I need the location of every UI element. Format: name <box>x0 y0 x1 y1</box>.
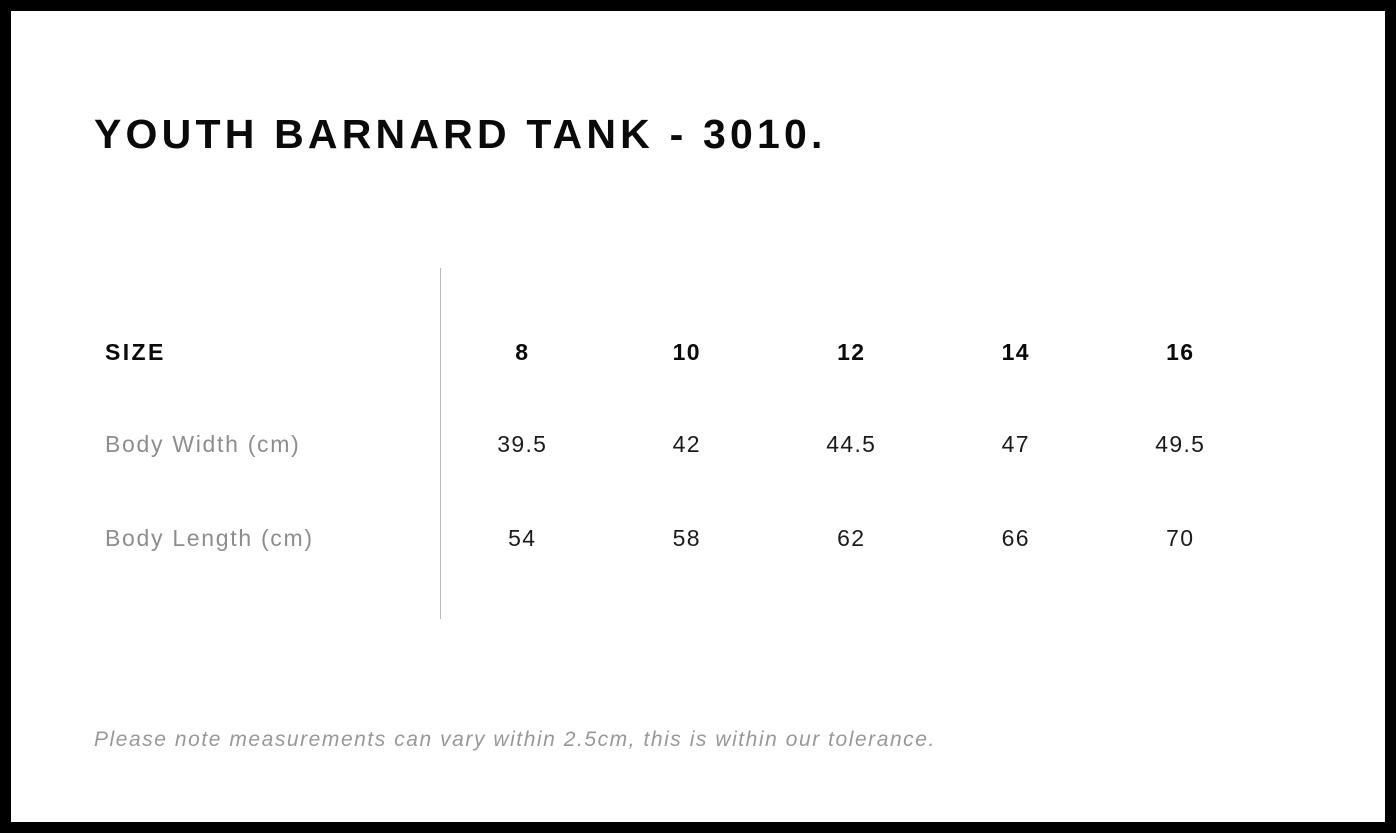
body-length-size-8: 54 <box>440 527 605 550</box>
row-label-body-width: Body Width (cm) <box>94 433 440 456</box>
row-label-body-length: Body Length (cm) <box>94 527 440 550</box>
measurement-tolerance-note: Please note measurements can vary within… <box>94 729 936 750</box>
table-header-size-16: 16 <box>1098 341 1263 364</box>
body-width-size-16: 49.5 <box>1098 433 1263 456</box>
body-length-size-12: 62 <box>769 527 934 550</box>
table-header-size-12: 12 <box>769 341 934 364</box>
size-chart-page: YOUTH BARNARD TANK - 3010. SIZE 8 10 12 … <box>11 11 1385 822</box>
table-row: Body Length (cm) 54 58 62 66 70 <box>94 523 1374 553</box>
body-width-size-12: 44.5 <box>769 433 934 456</box>
body-length-size-14: 66 <box>934 527 1099 550</box>
table-header-size-label: SIZE <box>94 341 440 364</box>
body-width-size-14: 47 <box>934 433 1099 456</box>
body-length-size-16: 70 <box>1098 527 1263 550</box>
body-width-size-8: 39.5 <box>440 433 605 456</box>
body-length-size-10: 58 <box>605 527 770 550</box>
table-header-row: SIZE 8 10 12 14 16 <box>94 337 1374 367</box>
table-row: Body Width (cm) 39.5 42 44.5 47 49.5 <box>94 429 1374 459</box>
page-title: YOUTH BARNARD TANK - 3010. <box>94 114 827 155</box>
size-chart-frame: YOUTH BARNARD TANK - 3010. SIZE 8 10 12 … <box>0 0 1396 833</box>
table-header-size-10: 10 <box>605 341 770 364</box>
size-chart-table: SIZE 8 10 12 14 16 Body Width (cm) 39.5 … <box>94 256 1374 636</box>
table-header-size-8: 8 <box>440 341 605 364</box>
table-header-size-14: 14 <box>934 341 1099 364</box>
body-width-size-10: 42 <box>605 433 770 456</box>
